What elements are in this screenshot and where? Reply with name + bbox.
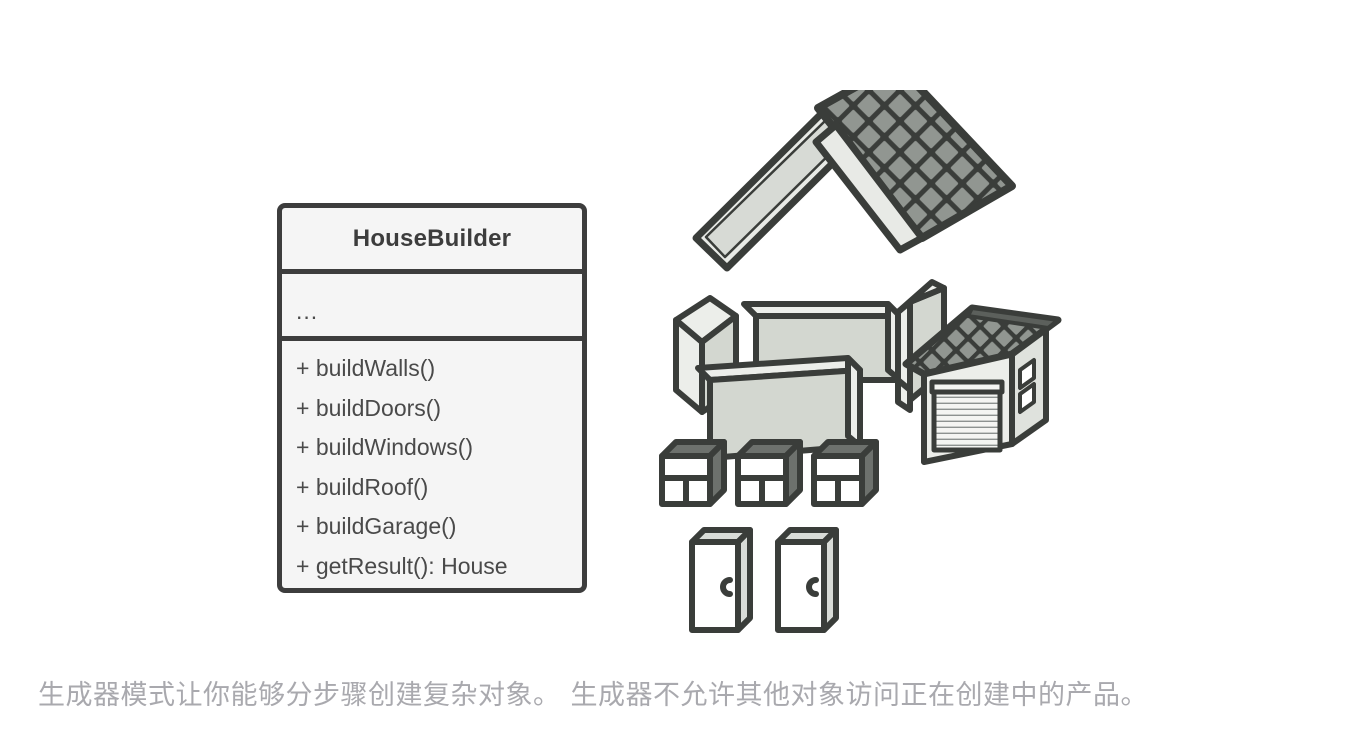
- uml-method-build-walls: + buildWalls(): [296, 349, 582, 389]
- uml-method-build-garage: + buildGarage(): [296, 507, 582, 547]
- window-3: [814, 442, 876, 504]
- uml-attribute-placeholder: ...: [296, 300, 318, 323]
- diagram-canvas: HouseBuilder ... + buildWalls() + buildD…: [0, 0, 1359, 742]
- uml-method-build-roof: + buildRoof(): [296, 468, 582, 508]
- caption: 生成器模式让你能够分步骤创建复杂对象。生成器不允许其他对象访问正在创建中的产品。: [38, 673, 1328, 712]
- uml-class-box: HouseBuilder ... + buildWalls() + buildD…: [277, 203, 587, 593]
- window-1: [662, 442, 724, 504]
- doors-part: [692, 530, 836, 630]
- walls-part: [676, 282, 944, 458]
- uml-attributes-compartment: ...: [282, 274, 582, 336]
- roof-part: [696, 90, 1012, 268]
- uml-method-build-doors: + buildDoors(): [296, 389, 582, 429]
- uml-method-get-result: + getResult(): House: [296, 547, 582, 587]
- window-2: [738, 442, 800, 504]
- uml-class-name: HouseBuilder: [282, 208, 582, 269]
- windows-part: [662, 442, 876, 504]
- uml-methods-compartment: + buildWalls() + buildDoors() + buildWin…: [282, 341, 582, 588]
- caption-sentence-2: 生成器不允许其他对象访问正在创建中的产品。: [571, 680, 1149, 710]
- door-1: [692, 530, 750, 630]
- door-2: [778, 530, 836, 630]
- caption-sentence-1: 生成器模式让你能够分步骤创建复杂对象。: [38, 680, 561, 710]
- house-parts-illustration: [620, 90, 1120, 650]
- uml-method-build-windows: + buildWindows(): [296, 428, 582, 468]
